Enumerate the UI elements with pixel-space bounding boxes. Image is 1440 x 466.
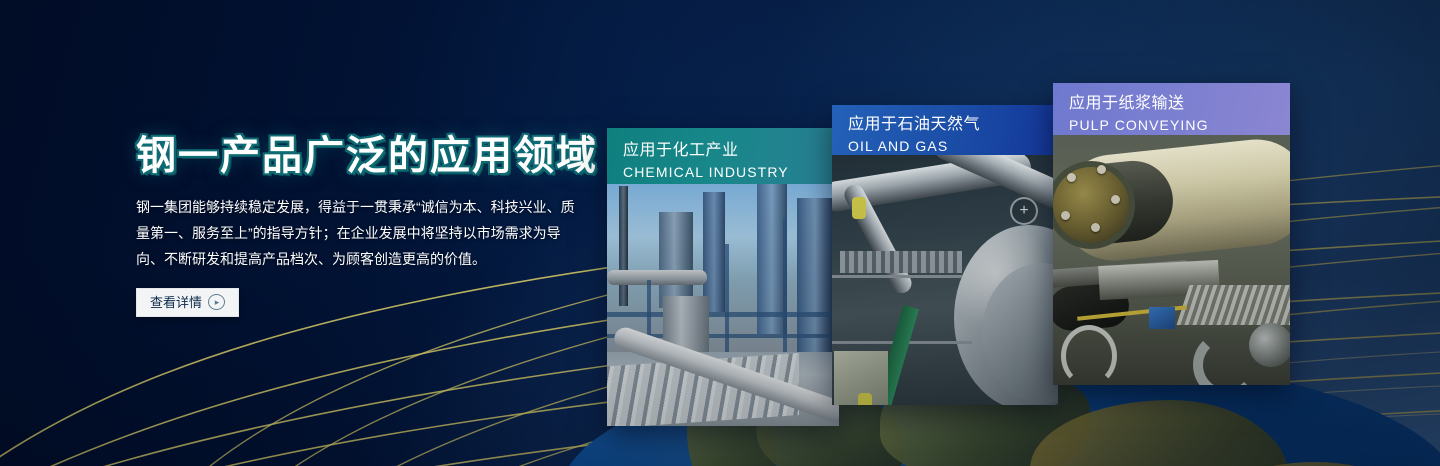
- hero-paragraph: 钢一集团能够持续稳定发展，得益于一贯秉承“诚信为本、科技兴业、质量第一、服务至上…: [136, 194, 588, 272]
- yellow-cap: [858, 393, 872, 405]
- handrail: [832, 275, 962, 278]
- page-title: 钢一产品广泛的应用领域: [136, 136, 606, 176]
- card-header-pulp: 应用于纸浆输送 PULP CONVEYING: [1053, 83, 1290, 135]
- card-title-cn: 应用于化工产业: [623, 140, 839, 162]
- application-card-oil-gas[interactable]: 应用于石油天然气 OIL AND GAS +: [832, 105, 1058, 405]
- card-title-en: OIL AND GAS: [848, 136, 1058, 156]
- steel-frame: [725, 244, 729, 356]
- horizontal-pipe: [607, 270, 707, 285]
- smokestack: [619, 186, 628, 306]
- bolt: [1061, 211, 1070, 220]
- bolt: [1067, 173, 1076, 182]
- card-header-chemical: 应用于化工产业 CHEMICAL INDUSTRY: [607, 128, 839, 184]
- card-title-en: PULP CONVEYING: [1069, 115, 1290, 135]
- card-header-oil-gas: 应用于石油天然气 OIL AND GAS: [832, 105, 1058, 155]
- card-title-cn: 应用于纸浆输送: [1069, 93, 1290, 115]
- plant-tower: [703, 192, 725, 312]
- application-card-chemical[interactable]: 应用于化工产业 CHEMICAL INDUSTRY: [607, 128, 839, 426]
- pipe-fitting: [1249, 323, 1290, 367]
- yellow-cap: [852, 197, 866, 219]
- plus-icon[interactable]: +: [1010, 197, 1038, 225]
- steel-frame: [607, 312, 839, 317]
- blue-valve: [1149, 307, 1175, 329]
- card-photo-chemical: [607, 184, 839, 426]
- chevron-right-circle-icon: ▸: [208, 294, 225, 310]
- view-details-label: 查看详情: [150, 296, 202, 309]
- plant-tower: [659, 212, 693, 308]
- card-photo-pulp: [1053, 135, 1290, 385]
- bolt: [1097, 165, 1106, 174]
- hero-copy-block: 钢一产品广泛的应用领域 钢一集团能够持续稳定发展，得益于一贯秉承“诚信为本、科技…: [136, 136, 606, 317]
- card-title-cn: 应用于石油天然气: [848, 114, 1058, 136]
- card-photo-oil-gas: +: [832, 155, 1058, 405]
- catwalk-grate: [840, 251, 962, 273]
- hose-loop: [1061, 325, 1117, 385]
- hero-banner: 钢一产品广泛的应用领域 钢一集团能够持续稳定发展，得益于一贯秉承“诚信为本、科技…: [0, 0, 1440, 466]
- corrugated-section: [1177, 285, 1290, 325]
- bolt: [1091, 223, 1100, 232]
- card-title-en: CHEMICAL INDUSTRY: [623, 162, 839, 182]
- application-card-pulp[interactable]: 应用于纸浆输送 PULP CONVEYING: [1053, 83, 1290, 385]
- view-details-button[interactable]: 查看详情 ▸: [136, 288, 239, 317]
- bolt: [1111, 195, 1120, 204]
- steel-frame: [783, 218, 787, 358]
